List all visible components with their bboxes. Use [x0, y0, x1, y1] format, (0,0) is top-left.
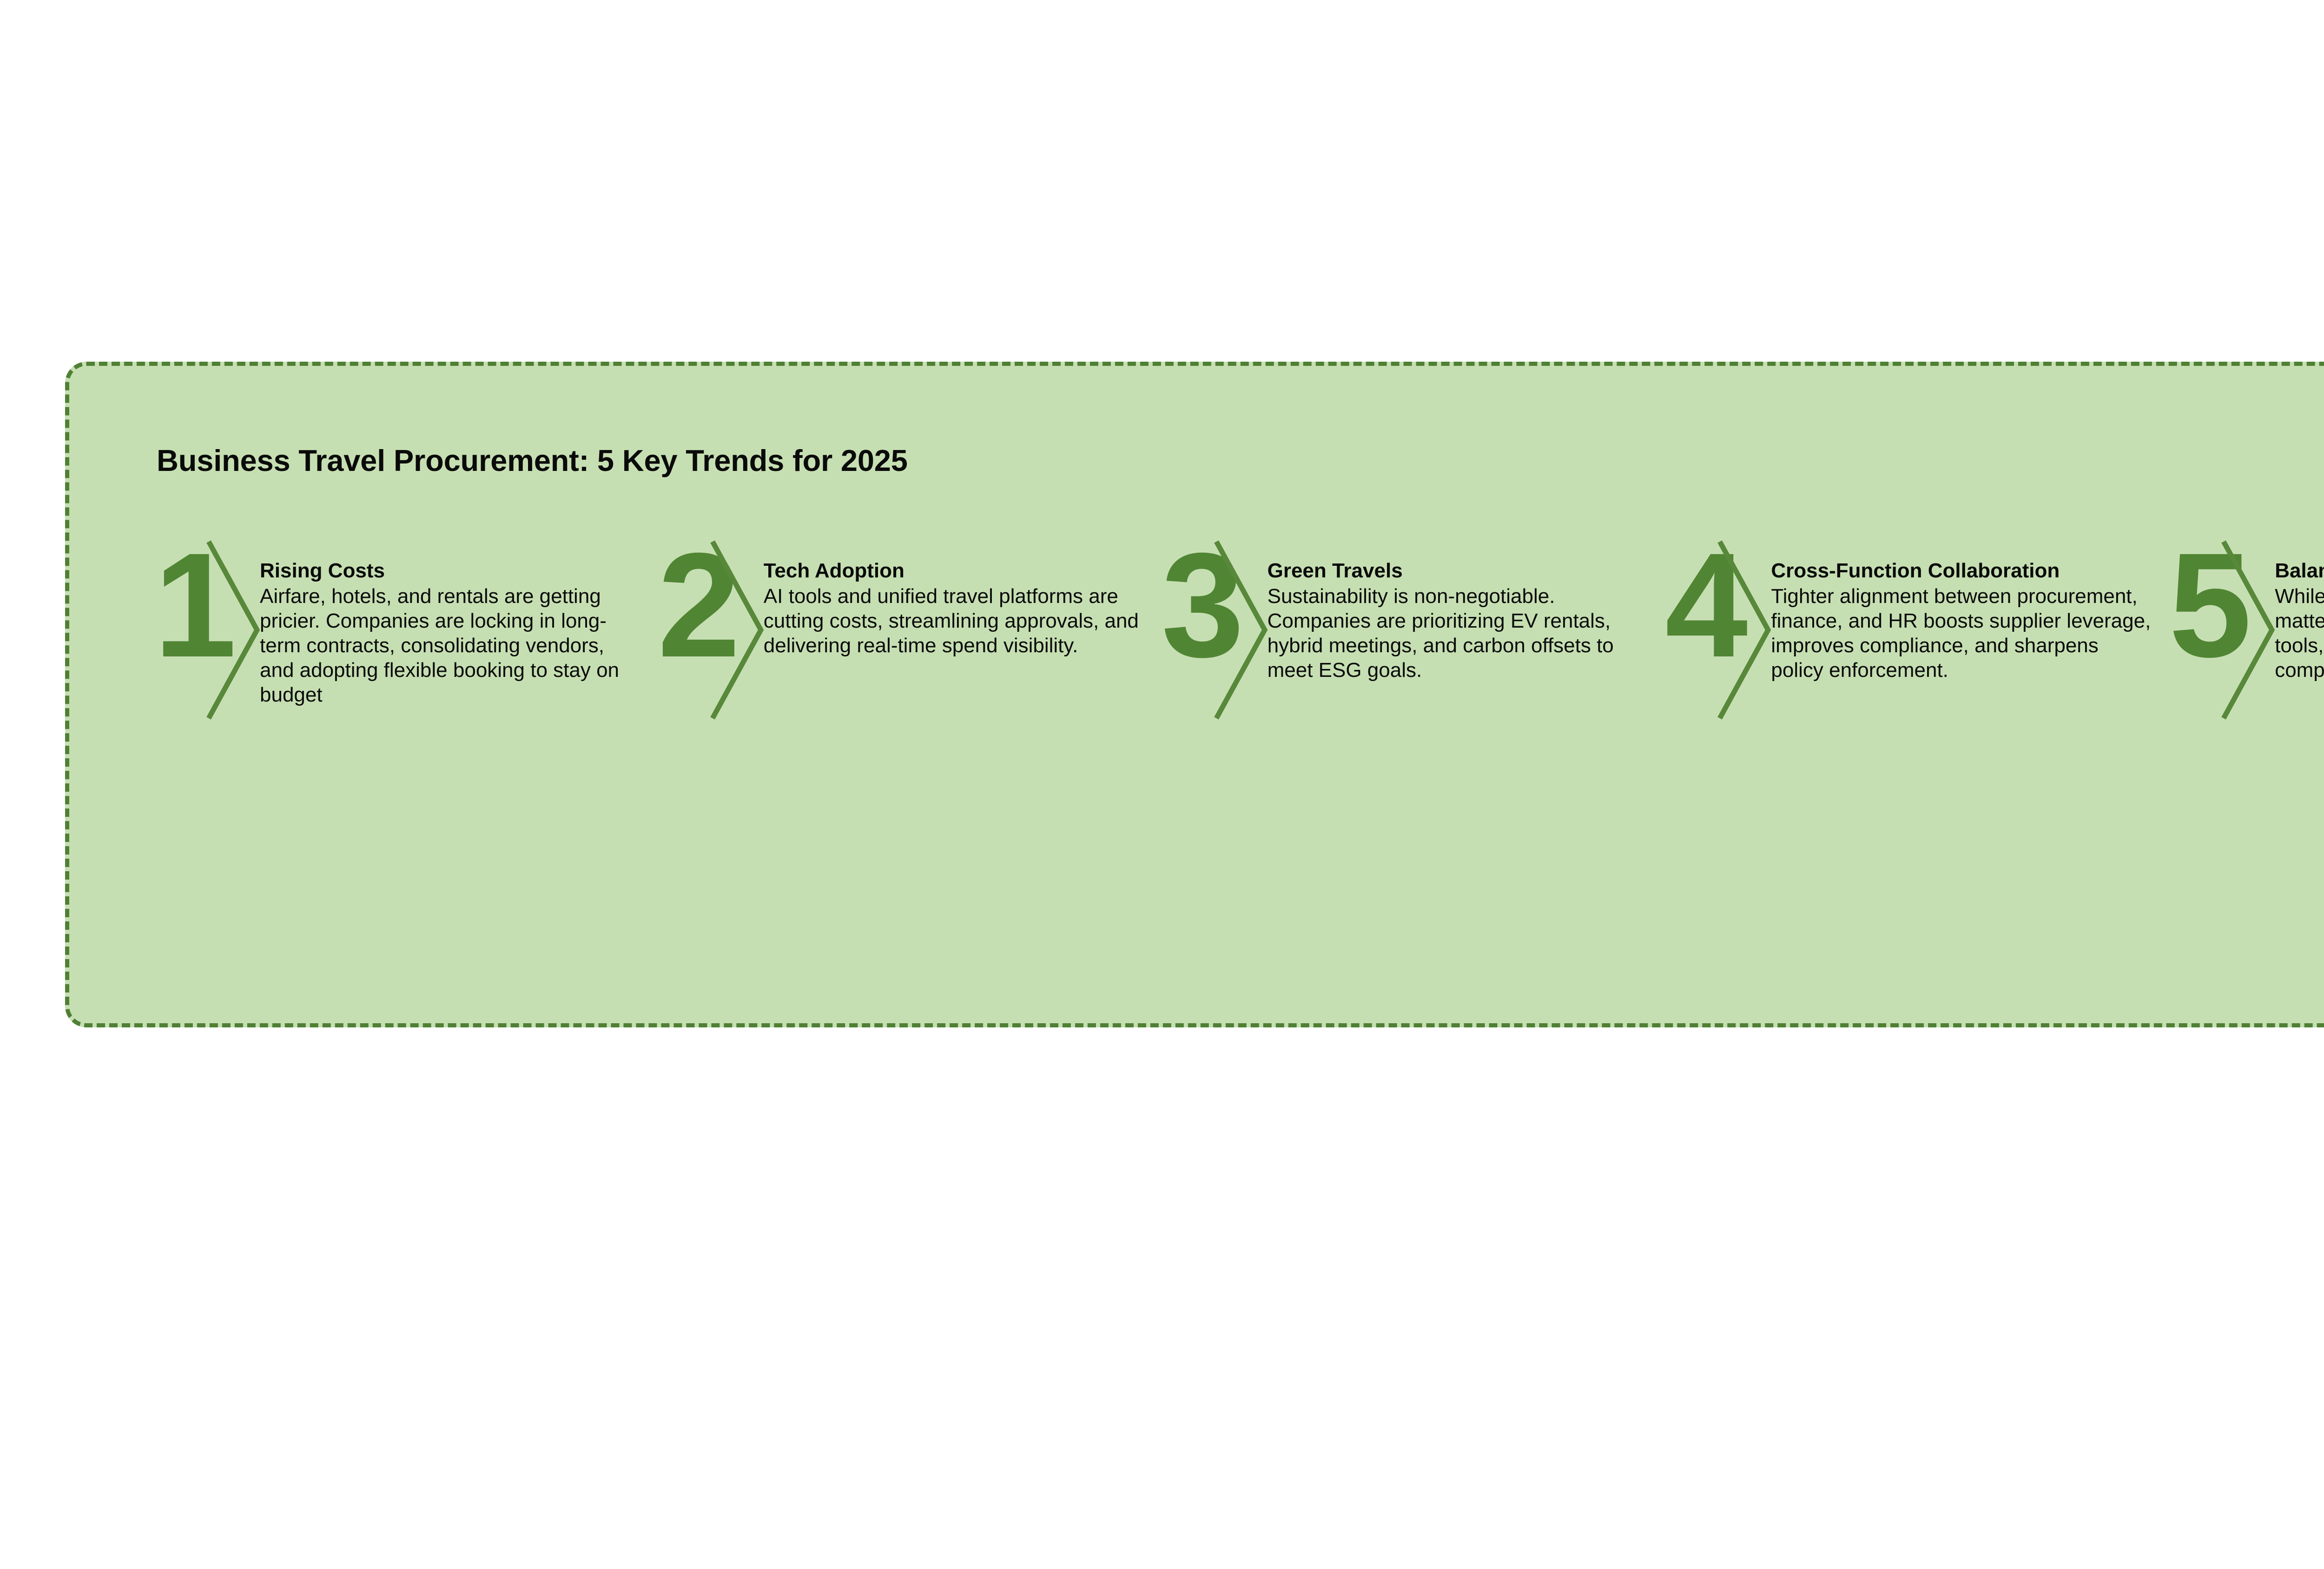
trend-body-3: Sustainability is non-negotiable. Compan… — [1268, 584, 1649, 682]
page-title: Business Travel Procurement: 5 Key Trend… — [157, 443, 908, 478]
trend-text-3: Green Travels Sustainability is non-nego… — [1268, 558, 1668, 682]
panel-header: Business Travel Procurement: 5 Key Trend… — [157, 428, 2324, 498]
chevron-right-icon-1 — [205, 539, 261, 720]
trends-row: 1 Rising Costs Airfare, hotels, and rent… — [157, 553, 2324, 725]
chevron-right-icon-4 — [1716, 539, 1772, 720]
trend-body-1: Airfare, hotels, and rentals are getting… — [260, 584, 641, 707]
trend-body-4: Tighter alignment between procurement, f… — [1771, 584, 2152, 682]
trend-item-3: 3 Green Travels Sustainability is non-ne… — [1164, 553, 1668, 725]
trend-body-5: While cost is key, traveler satisfaction… — [2275, 584, 2324, 682]
trend-heading-2: Tech Adoption — [764, 558, 1145, 583]
trend-text-5: Balancing Costs While cost is key, trave… — [2275, 558, 2324, 682]
trend-body-2: AI tools and unified travel platforms ar… — [764, 584, 1145, 658]
trend-heading-5: Balancing Costs — [2275, 558, 2324, 583]
infographic-panel: Business Travel Procurement: 5 Key Trend… — [65, 362, 2324, 1027]
trend-marker-1: 1 — [157, 539, 260, 725]
trend-item-5: 5 Balancing Costs While cost is key, tra… — [2172, 553, 2324, 725]
trend-text-4: Cross-Function Collaboration Tighter ali… — [1771, 558, 2172, 682]
chevron-right-icon-2 — [709, 539, 765, 720]
trend-item-4: 4 Cross-Function Collaboration Tighter a… — [1668, 553, 2172, 725]
trend-item-2: 2 Tech Adoption AI tools and unified tra… — [660, 553, 1164, 725]
trend-marker-4: 4 — [1668, 539, 1771, 725]
chevron-right-icon-5 — [2220, 539, 2276, 720]
trend-text-2: Tech Adoption AI tools and unified trave… — [764, 558, 1164, 658]
trend-marker-5: 5 — [2172, 539, 2275, 725]
trend-marker-3: 3 — [1164, 539, 1268, 725]
trend-heading-3: Green Travels — [1268, 558, 1649, 583]
trend-marker-2: 2 — [660, 539, 764, 725]
trend-heading-1: Rising Costs — [260, 558, 641, 583]
trend-item-1: 1 Rising Costs Airfare, hotels, and rent… — [157, 553, 660, 725]
chevron-right-icon-3 — [1213, 539, 1268, 720]
trend-text-1: Rising Costs Airfare, hotels, and rental… — [260, 558, 660, 707]
trend-heading-4: Cross-Function Collaboration — [1771, 558, 2152, 583]
